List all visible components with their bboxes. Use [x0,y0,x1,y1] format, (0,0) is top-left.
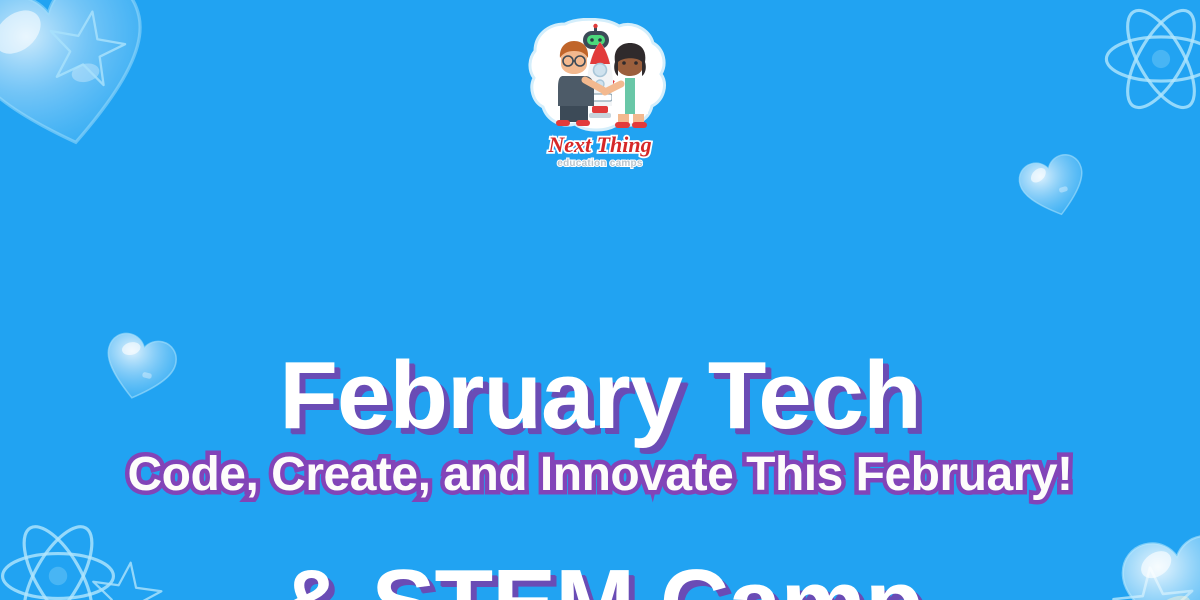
star-icon [35,0,137,99]
heart-icon [0,0,179,187]
atom-icon [1096,0,1200,124]
headline-line-2: & STEM Camp [0,552,1200,600]
atom-top-right [1096,0,1200,124]
balloon-heart-mid-right [1009,143,1098,232]
heart-icon [1009,143,1098,232]
logo-wordmark: Next Thing education camps [525,130,675,174]
next-thing-education-camps-logo: Next Thing education camps [515,18,685,176]
logo-wordmark-secondary: education camps [557,158,643,169]
page-title: February Tech & STEM Camp [0,240,1200,600]
headline-line-1: February Tech [0,344,1200,448]
logo-wordmark-primary: Next Thing [547,132,651,157]
page-subtitle: Code, Create, and Innovate This February… [0,444,1200,506]
event-banner: Next Thing education camps February Tech… [0,0,1200,600]
balloon-heart-top-left [0,0,179,187]
outline-star-top-left [35,0,137,99]
logo-illustration [525,18,675,136]
